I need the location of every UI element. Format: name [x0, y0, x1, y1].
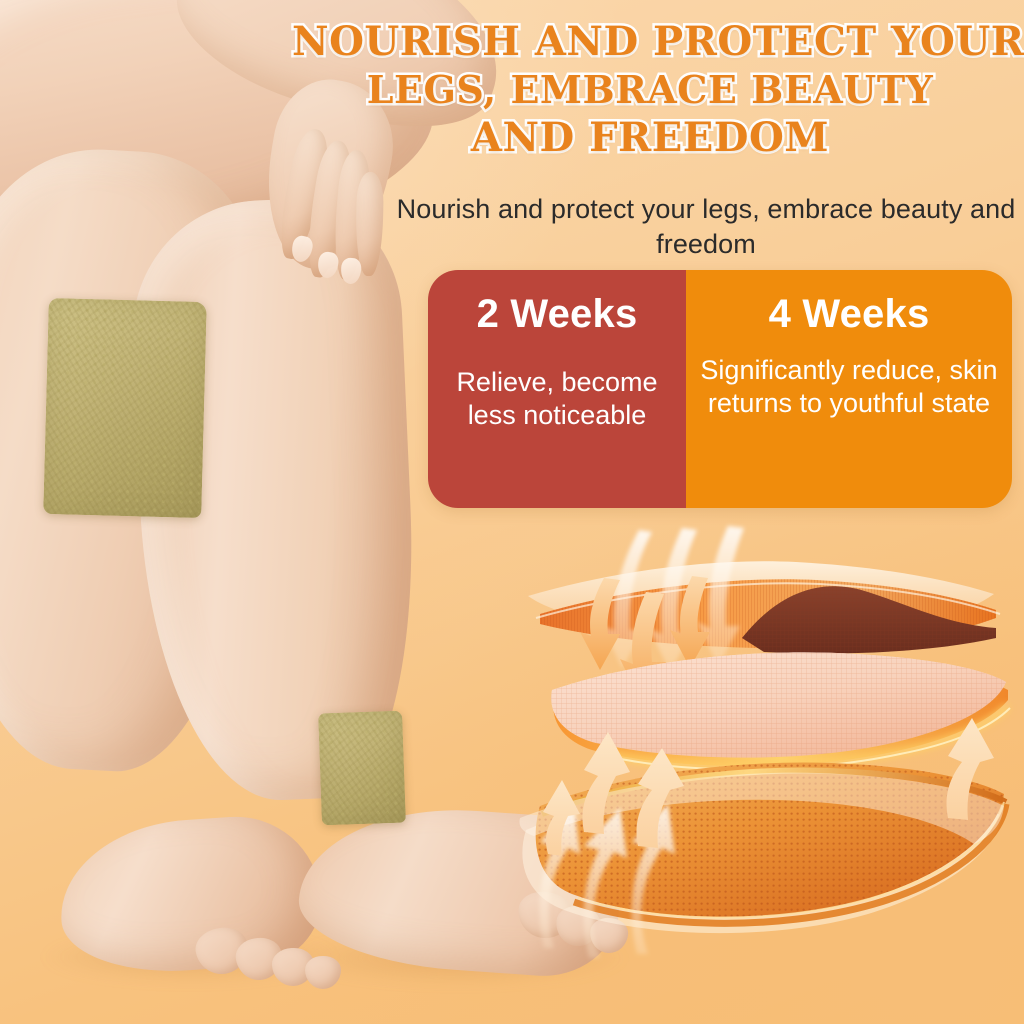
- herbal-patch-ankle: [318, 711, 406, 826]
- results-card: 2 Weeks Relieve, become less noticeable …: [428, 270, 1012, 508]
- panel-desc-4-weeks: Significantly reduce, skin returns to yo…: [686, 354, 1012, 420]
- exploded-patch-layers-diagram: [496, 518, 1024, 970]
- panel-desc-2-weeks: Relieve, become less noticeable: [428, 366, 686, 432]
- headline-line-2: LEGS, EMBRACE BEAUTY: [292, 66, 1008, 114]
- diagram-layer-middle: [551, 652, 1010, 769]
- poster-canvas: NOURISH AND PROTECT YOUR LEGS, EMBRACE B…: [0, 0, 1024, 1024]
- headline-line-3: AND FREEDOM: [292, 114, 1008, 162]
- results-panel-4-weeks: 4 Weeks Significantly reduce, skin retur…: [686, 270, 1012, 508]
- headline-line-1: NOURISH AND PROTECT YOUR: [292, 18, 1008, 66]
- toe-l4: [305, 956, 341, 989]
- panel-title-2-weeks: 2 Weeks: [477, 290, 638, 338]
- headline: NOURISH AND PROTECT YOUR LEGS, EMBRACE B…: [292, 18, 1008, 162]
- results-panel-2-weeks: 2 Weeks Relieve, become less noticeable: [428, 270, 686, 508]
- subtitle-line-1: Nourish and protect your legs, embrace: [397, 194, 874, 224]
- herbal-patch-calf: [43, 298, 207, 518]
- subtitle: Nourish and protect your legs, embrace b…: [392, 192, 1020, 262]
- panel-title-4-weeks: 4 Weeks: [769, 290, 930, 338]
